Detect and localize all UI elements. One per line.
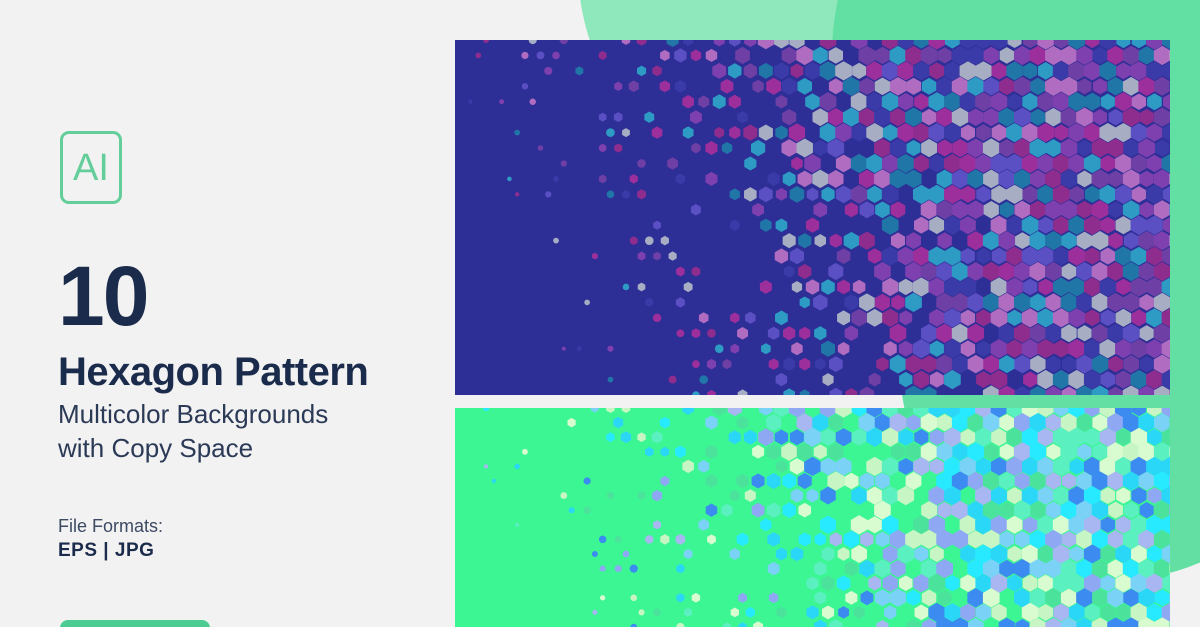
- file-formats-value: EPS | JPG: [58, 540, 154, 562]
- cta-button[interactable]: [60, 620, 210, 627]
- page-subtitle: Multicolor Backgroundswith Copy Space: [58, 398, 438, 466]
- product-preview-card: AI 10 Hexagon Pattern Multicolor Backgro…: [0, 0, 1200, 627]
- blue-hexagon-banner-preview: [455, 40, 1170, 395]
- info-panel: AI 10 Hexagon Pattern Multicolor Backgro…: [0, 0, 455, 627]
- ai-format-badge: AI: [60, 131, 122, 204]
- ai-badge-label: AI: [73, 149, 109, 187]
- item-count: 10: [58, 254, 147, 338]
- file-formats-label: File Formats:: [58, 516, 163, 537]
- green-hexagon-banner-preview: [455, 408, 1170, 627]
- page-title: Hexagon Pattern: [58, 352, 368, 392]
